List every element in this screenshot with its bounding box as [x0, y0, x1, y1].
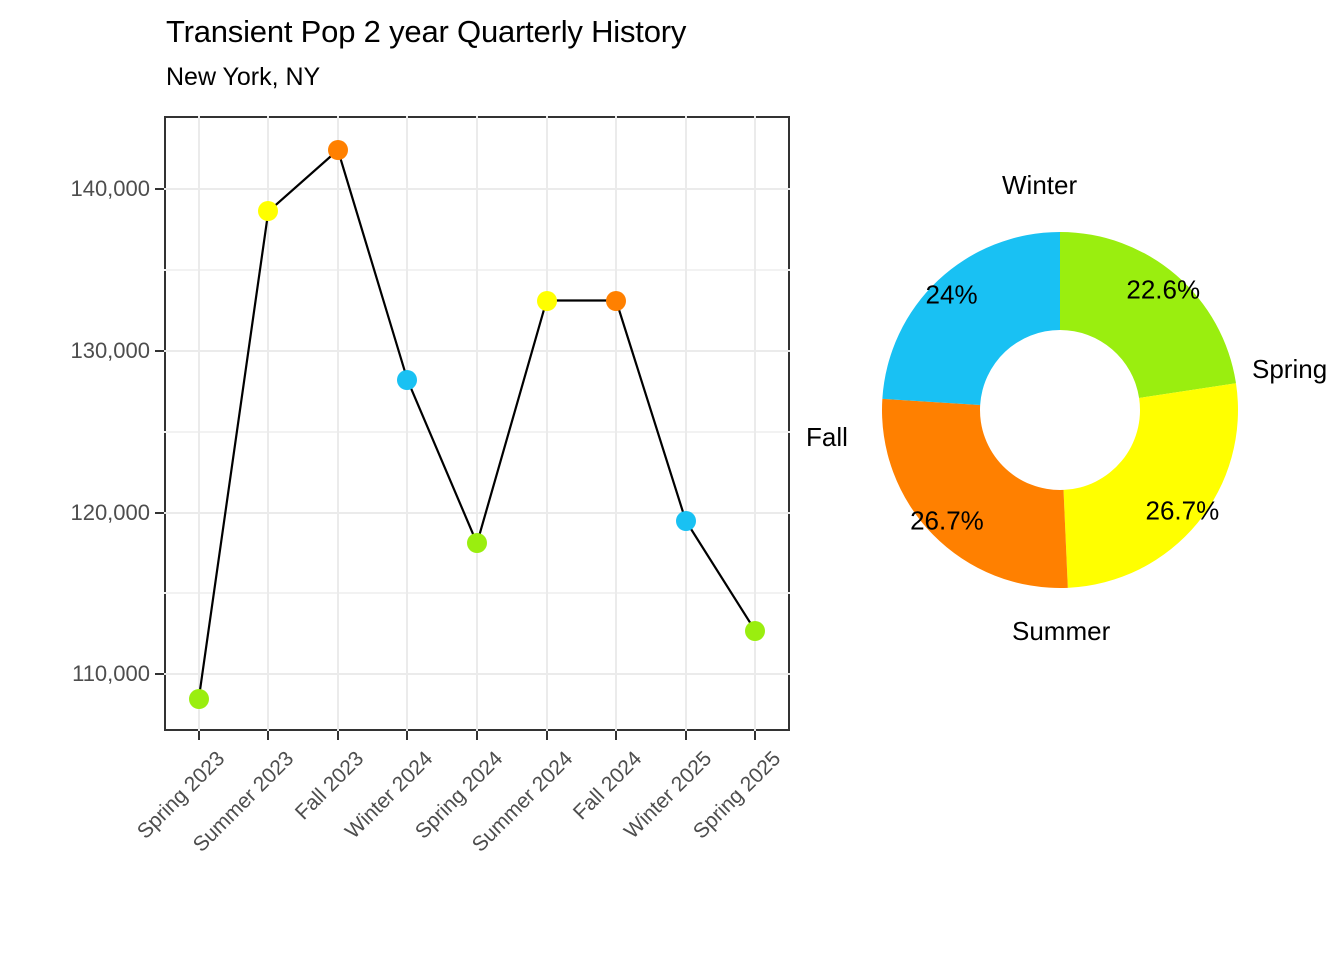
- y-axis-tick-label: 120,000: [40, 500, 150, 526]
- data-point-spring-8[interactable]: [745, 621, 765, 641]
- y-axis-tick-mark: [155, 512, 164, 514]
- x-axis-tick-mark: [546, 731, 548, 740]
- x-axis-tick-mark: [615, 731, 617, 740]
- chart-canvas: Transient Pop 2 year Quarterly History N…: [0, 0, 1344, 960]
- x-axis-tick-mark: [754, 731, 756, 740]
- donut-chart-region: Winter Spring Summer Fall 22.6%26.7%26.7…: [840, 0, 1344, 960]
- donut-label-spring: Spring: [1252, 354, 1327, 385]
- x-axis-tick-mark: [198, 731, 200, 740]
- y-axis-tick-mark: [155, 350, 164, 352]
- y-axis-tick-label: 130,000: [40, 338, 150, 364]
- donut-percent-winter: 24%: [926, 279, 978, 310]
- donut-segment-spring[interactable]: [1060, 232, 1236, 398]
- data-point-spring-0[interactable]: [189, 689, 209, 709]
- y-axis-tick-label: 110,000: [40, 661, 150, 687]
- x-axis-tick-mark: [685, 731, 687, 740]
- x-axis-tick-mark: [267, 731, 269, 740]
- data-point-spring-4[interactable]: [467, 533, 487, 553]
- donut-label-summer: Summer: [1012, 616, 1110, 647]
- donut-label-fall: Fall: [806, 422, 848, 453]
- y-axis-tick-label: 140,000: [40, 176, 150, 202]
- x-axis-tick-mark: [406, 731, 408, 740]
- data-point-winter-7[interactable]: [676, 511, 696, 531]
- donut-svg: [840, 0, 1344, 960]
- donut-segment-summer[interactable]: [1064, 383, 1238, 588]
- donut-percent-fall: 26.7%: [910, 505, 984, 536]
- data-point-summer-5[interactable]: [537, 291, 557, 311]
- x-axis-tick-mark: [476, 731, 478, 740]
- donut-segment-fall[interactable]: [882, 399, 1068, 588]
- donut-percent-summer: 26.7%: [1145, 495, 1219, 526]
- y-axis-tick-mark: [155, 673, 164, 675]
- x-axis-tick-mark: [337, 731, 339, 740]
- data-point-fall-2[interactable]: [328, 140, 348, 160]
- donut-segment-winter[interactable]: [882, 232, 1060, 405]
- y-axis-tick-mark: [155, 188, 164, 190]
- data-point-summer-1[interactable]: [258, 201, 278, 221]
- data-point-winter-3[interactable]: [397, 370, 417, 390]
- donut-percent-spring: 22.6%: [1126, 274, 1200, 305]
- donut-label-winter: Winter: [1002, 170, 1077, 201]
- line-chart-region: 110,000120,000130,000140,000 Spring 2023…: [0, 0, 840, 960]
- data-point-fall-6[interactable]: [606, 291, 626, 311]
